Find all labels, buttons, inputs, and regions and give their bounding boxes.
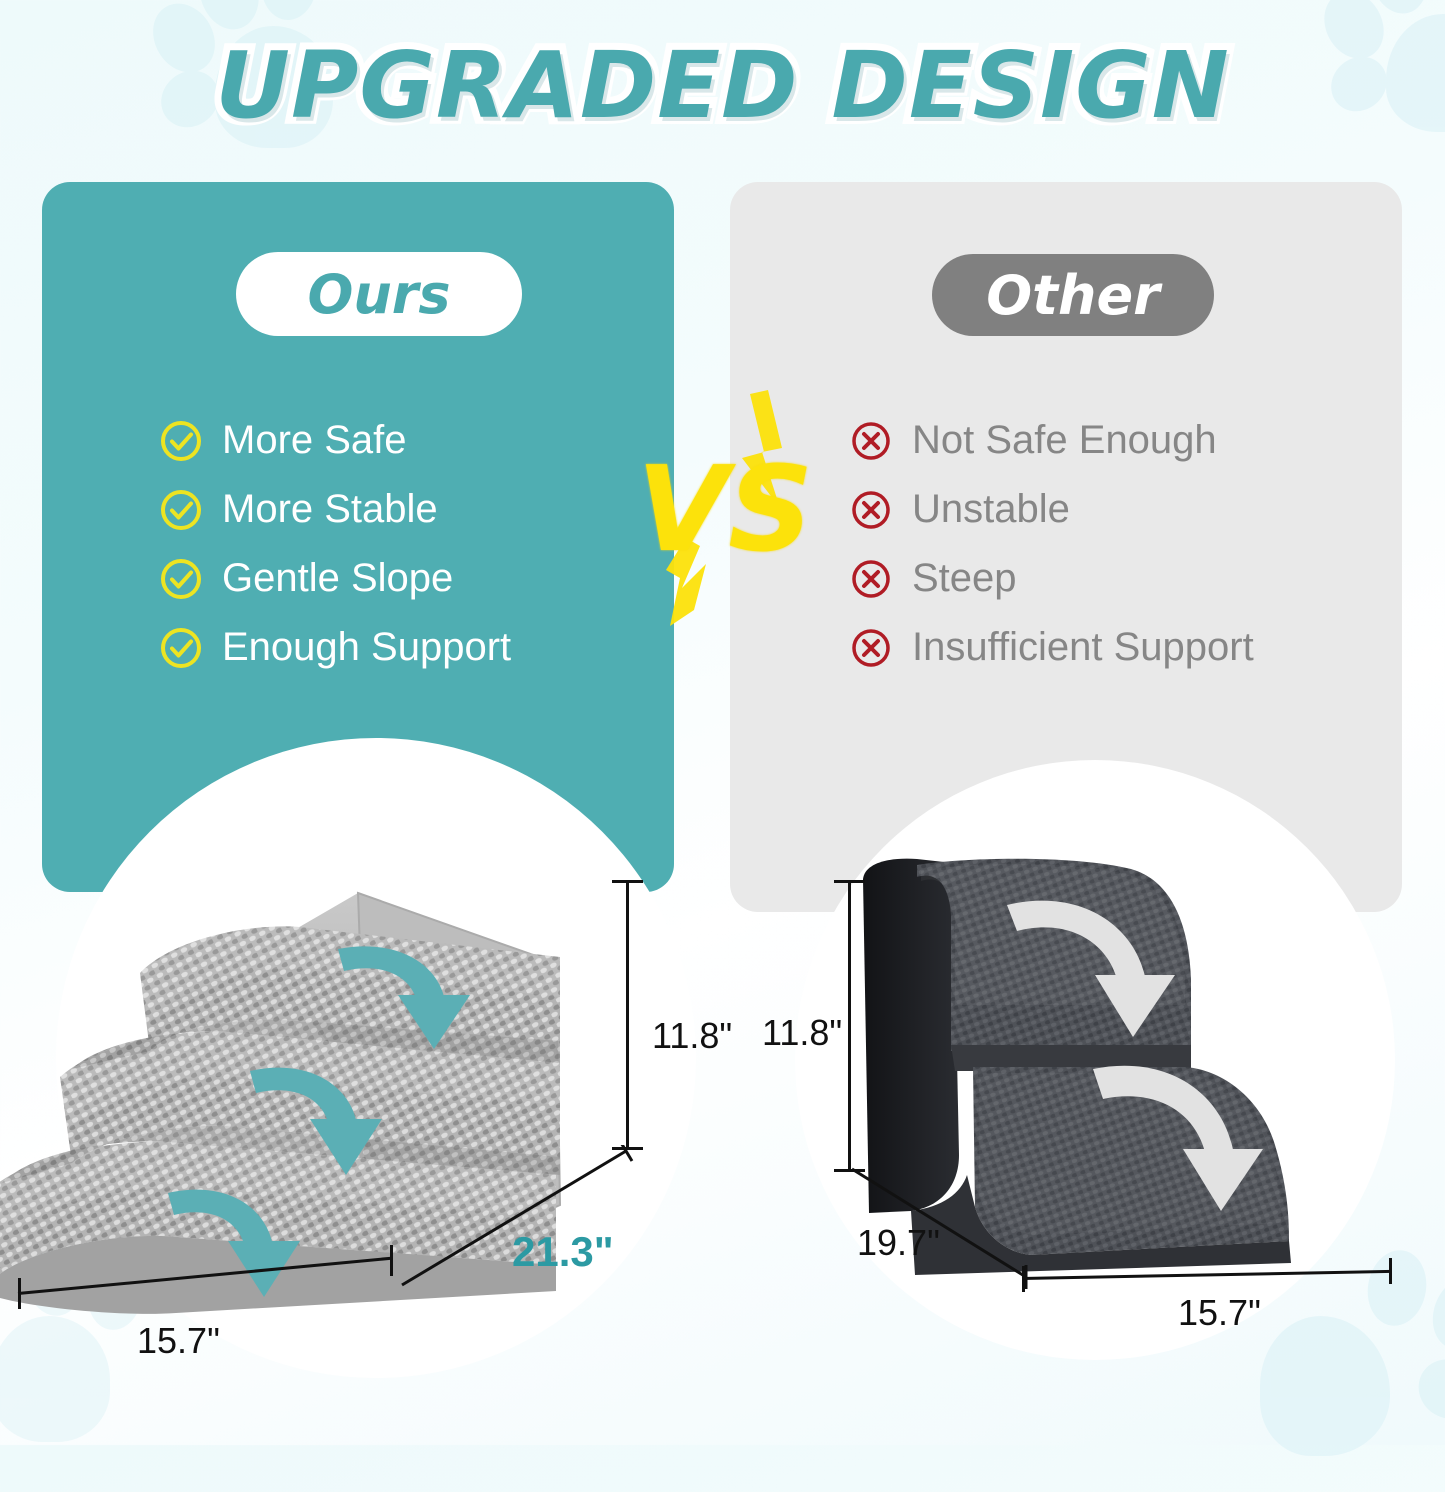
other-width-tick-right [1389,1258,1392,1284]
versus-badge: VS [630,388,820,628]
list-item: Unstable [848,475,1254,544]
ours-depth-label: 21.3" [512,1228,614,1276]
ours-header-label: Ours [307,263,450,326]
check-circle-icon [158,556,222,602]
list-item-label: Not Safe Enough [912,418,1217,463]
other-height-label: 11.8" [762,1012,842,1054]
ours-width-label: 15.7" [137,1320,220,1362]
other-depth-label: 19.7" [857,1222,940,1264]
list-item: Gentle Slope [158,544,511,613]
list-item-label: Unstable [912,487,1070,532]
ours-height-tick-top [612,880,643,883]
ours-width-tick-left [18,1278,21,1309]
other-header-pill: Other [932,254,1214,336]
list-item: More Safe [158,406,511,475]
ours-height-label: 11.8" [652,1015,732,1057]
check-circle-icon [158,418,222,464]
other-width-label: 15.7" [1178,1292,1261,1334]
list-item: Insufficient Support [848,613,1254,682]
other-height-dimension-line [848,880,851,1172]
list-item: More Stable [158,475,511,544]
x-circle-icon [848,487,912,533]
ours-header-pill: Ours [236,252,522,336]
ours-height-dimension-line [626,880,629,1150]
check-circle-icon [158,625,222,671]
ours-width-tick-right [390,1245,393,1276]
list-item-label: Gentle Slope [222,556,453,601]
versus-label: VS [630,450,820,568]
check-circle-icon [158,487,222,533]
x-circle-icon [848,556,912,602]
list-item-label: More Stable [222,487,438,532]
list-item: Enough Support [158,613,511,682]
list-item-label: More Safe [222,418,407,463]
other-feature-list: Not Safe Enough Unstable Steep [848,406,1254,682]
list-item: Not Safe Enough [848,406,1254,475]
other-header-label: Other [986,264,1159,327]
infographic-canvas: UPGRADED DESIGN Ours More Safe More Stab [0,0,1445,1445]
page-title-container: UPGRADED DESIGN [0,32,1445,139]
ours-feature-list: More Safe More Stable Gentle Slope [158,406,511,682]
other-height-tick-top [834,880,865,883]
page-title: UPGRADED DESIGN [215,32,1230,139]
list-item-label: Enough Support [222,625,511,670]
x-circle-icon [848,418,912,464]
x-circle-icon [848,625,912,671]
list-item: Steep [848,544,1254,613]
list-item-label: Steep [912,556,1017,601]
list-item-label: Insufficient Support [912,625,1254,670]
other-width-tick-left [1022,1266,1025,1292]
